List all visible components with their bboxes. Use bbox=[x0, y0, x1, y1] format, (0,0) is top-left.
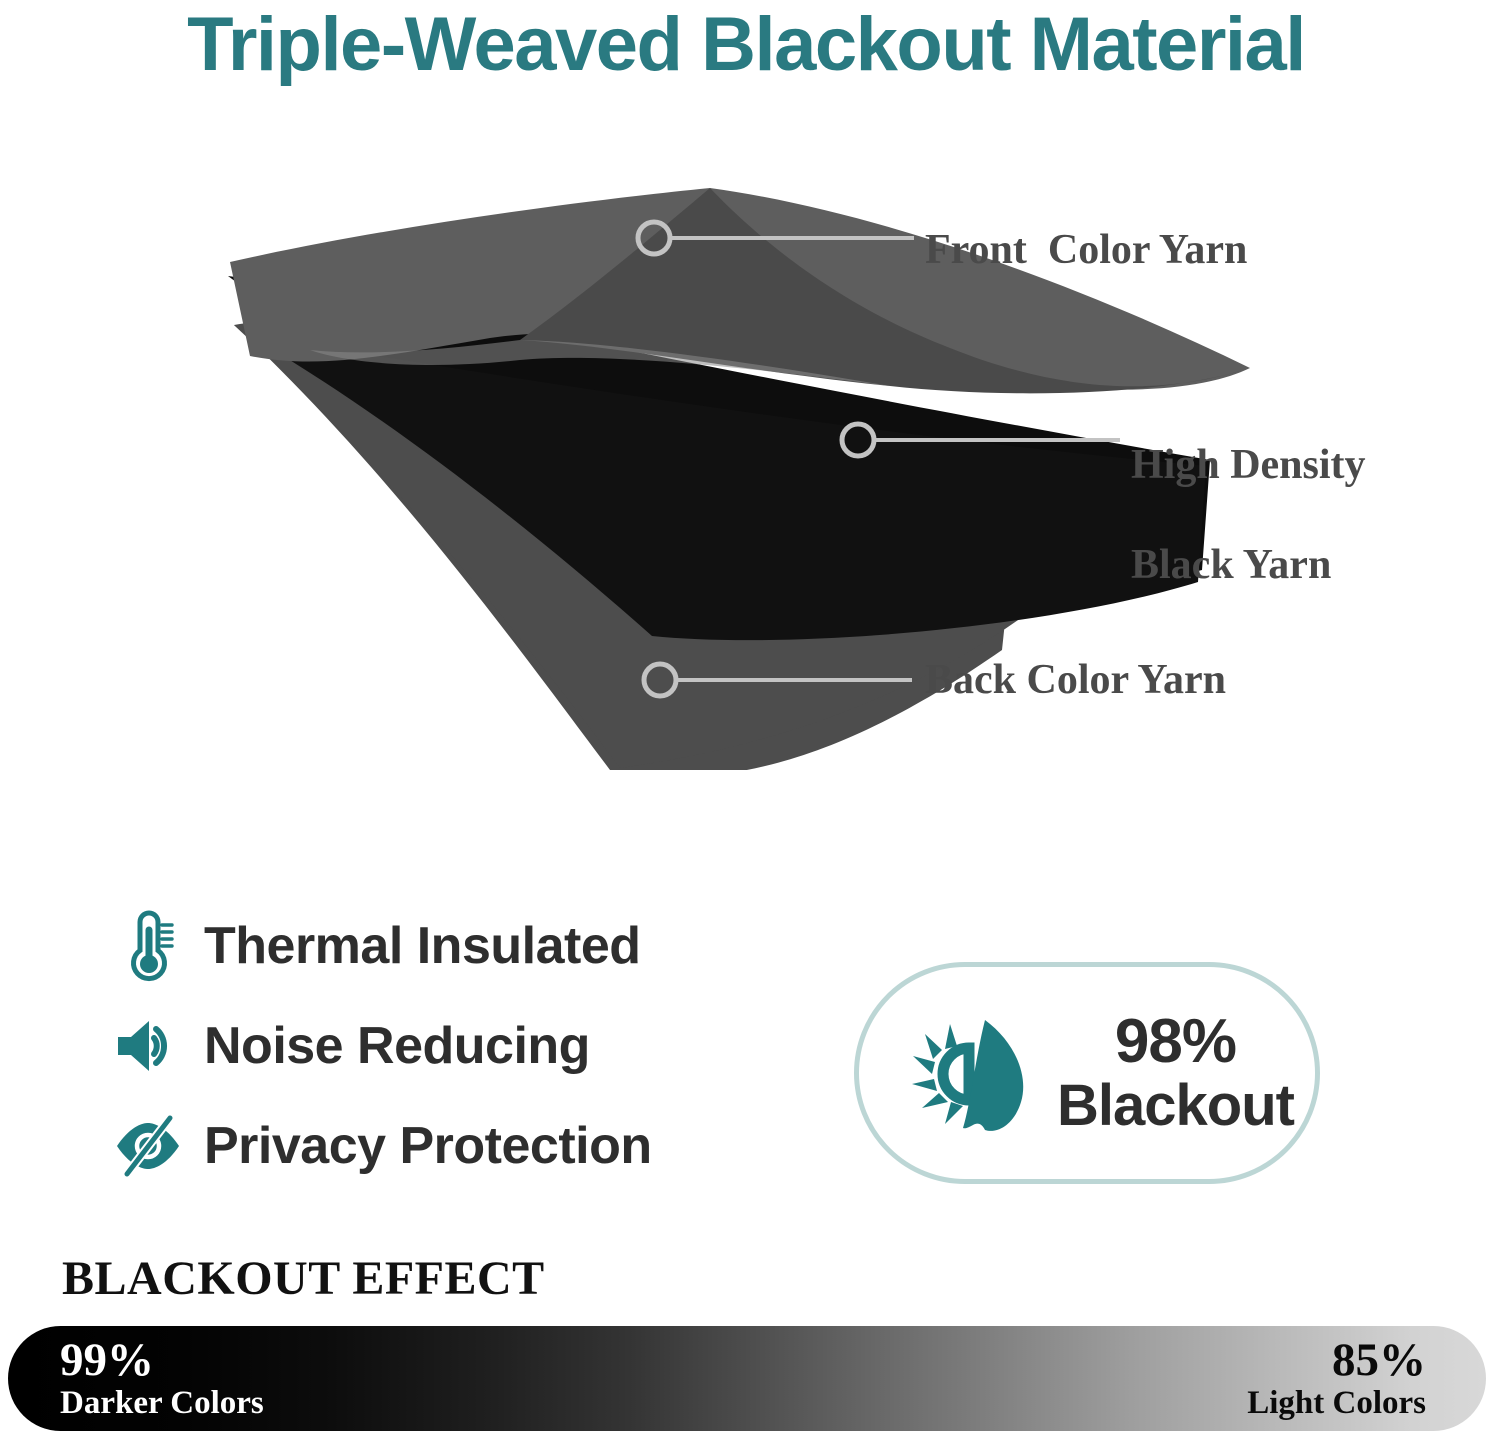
callout-label-front-color-yarn: Front Color Yarn bbox=[925, 225, 1247, 275]
blackout-badge-text: 98% Blackout bbox=[1057, 1009, 1294, 1137]
feature-item-noise-reducing: Noise Reducing bbox=[112, 998, 772, 1094]
feature-list: Thermal Insulated Noise Reducing Privacy… bbox=[112, 898, 772, 1198]
sun-blocked-icon bbox=[893, 998, 1043, 1148]
blackout-effect-darker-colors: 99% Darker Colors bbox=[60, 1326, 264, 1431]
darker-colors-percent: 99% bbox=[60, 1335, 154, 1385]
blackout-effect-light-colors: 85% Light Colors bbox=[1247, 1326, 1426, 1431]
callout-line-1: High Density bbox=[1131, 442, 1366, 488]
eye-slash-icon bbox=[112, 1110, 184, 1182]
blackout-word: Blackout bbox=[1057, 1075, 1294, 1137]
blackout-badge: 98% Blackout bbox=[854, 962, 1320, 1184]
callout-label-high-density-black-yarn: High Density Black Yarn bbox=[1110, 390, 1366, 590]
feature-item-privacy-protection: Privacy Protection bbox=[112, 1098, 772, 1194]
darker-colors-label: Darker Colors bbox=[60, 1385, 264, 1422]
blackout-percent: 98% bbox=[1057, 1009, 1294, 1075]
feature-label-thermal-insulated: Thermal Insulated bbox=[204, 918, 641, 974]
feature-label-privacy-protection: Privacy Protection bbox=[204, 1118, 652, 1174]
feature-item-thermal-insulated: Thermal Insulated bbox=[112, 898, 772, 994]
speaker-icon bbox=[112, 1010, 184, 1082]
thermometer-icon bbox=[112, 910, 184, 982]
blackout-effect-heading: BLACKOUT EFFECT bbox=[62, 1252, 545, 1306]
blackout-effect-gradient-bar: 99% Darker Colors 85% Light Colors bbox=[8, 1326, 1486, 1431]
page-title: Triple-Weaved Blackout Material bbox=[0, 2, 1492, 88]
light-colors-label: Light Colors bbox=[1247, 1385, 1426, 1422]
callout-line-2: Black Yarn bbox=[1131, 542, 1331, 588]
callout-label-back-color-yarn: Back Color Yarn bbox=[925, 655, 1226, 705]
feature-label-noise-reducing: Noise Reducing bbox=[204, 1018, 590, 1074]
light-colors-percent: 85% bbox=[1332, 1335, 1426, 1385]
